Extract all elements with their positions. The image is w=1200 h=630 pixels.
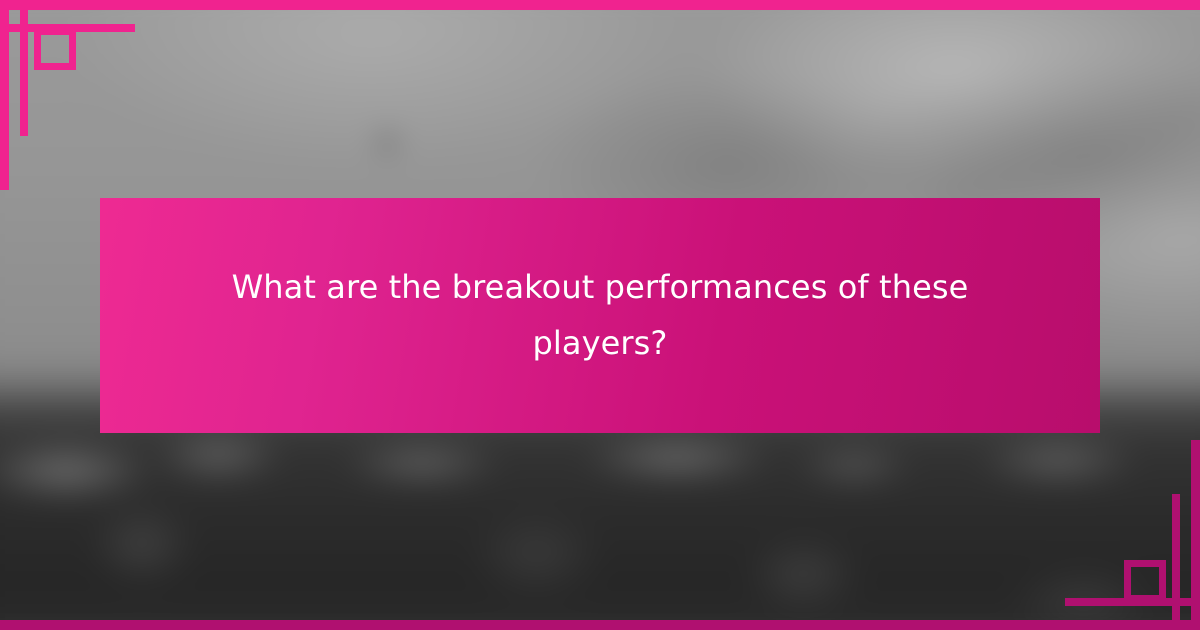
deco-bottom-rule bbox=[0, 620, 1200, 630]
question-text: What are the breakout performances of th… bbox=[220, 260, 980, 370]
question-banner: What are the breakout performances of th… bbox=[100, 198, 1100, 433]
corner-bracket-bottom-right bbox=[940, 430, 1200, 630]
corner-bracket-top-left bbox=[0, 0, 260, 200]
deco-square-br bbox=[1124, 560, 1166, 602]
deco-long-rule-br bbox=[1070, 598, 1145, 606]
deco-square bbox=[34, 28, 76, 70]
deco-top-rule bbox=[0, 0, 1200, 10]
deco-long-rule bbox=[55, 24, 130, 32]
background-speck bbox=[380, 133, 395, 152]
share-card: What are the breakout performances of th… bbox=[0, 0, 1200, 630]
